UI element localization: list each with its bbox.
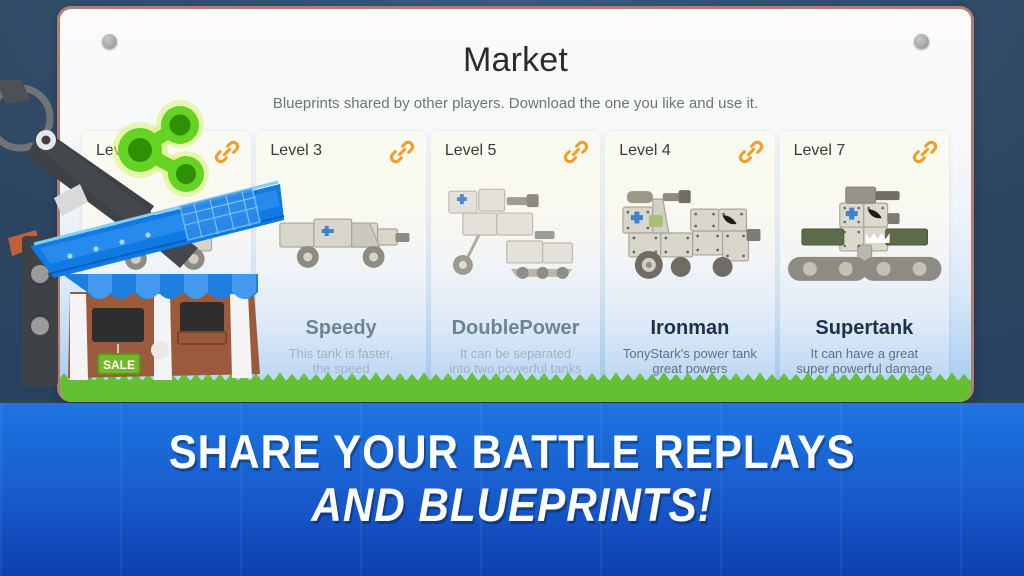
blueprint-card[interactable]: Level 3 xyxy=(256,131,425,402)
tank-sprite xyxy=(605,173,774,303)
tank-sprite xyxy=(82,173,251,303)
promo-line-1: SHARE YOUR BATTLE REPLAYS xyxy=(51,425,973,478)
card-level-label: Level 7 xyxy=(794,142,846,160)
tank-sprite xyxy=(431,173,600,303)
card-level-label: Level 3 xyxy=(270,142,322,160)
promo-banner: SHARE YOUR BATTLE REPLAYS AND BLUEPRINTS… xyxy=(0,403,1024,576)
link-icon[interactable] xyxy=(563,139,589,165)
link-icon[interactable] xyxy=(389,139,415,165)
link-icon[interactable] xyxy=(214,139,240,165)
card-title: Speedy xyxy=(256,317,425,340)
tank-sprite xyxy=(780,173,949,303)
blueprint-card[interactable]: Level 7 xyxy=(780,131,949,402)
link-icon[interactable] xyxy=(738,139,764,165)
card-level-label: Level 4 xyxy=(619,142,671,160)
page-title: Market xyxy=(60,41,971,80)
market-panel: Market Blueprints shared by other player… xyxy=(57,6,974,402)
blueprint-card[interactable]: Level 5 xyxy=(431,131,600,402)
promo-banner-text: SHARE YOUR BATTLE REPLAYS AND BLUEPRINTS… xyxy=(51,425,973,531)
promo-line-2: AND BLUEPRINTS! xyxy=(51,478,973,531)
grass-strip xyxy=(60,380,971,402)
card-level-label: Level 5 xyxy=(445,142,497,160)
card-level-label: Level 2 xyxy=(96,142,148,160)
card-title: DoublePower xyxy=(431,317,600,340)
blueprint-card-list: Level 2 xyxy=(82,131,949,402)
page-subtitle: Blueprints shared by other players. Down… xyxy=(60,95,971,112)
card-title: Ironman xyxy=(605,317,774,340)
blueprint-card[interactable]: Level 2 xyxy=(82,131,251,402)
link-icon[interactable] xyxy=(912,139,938,165)
blueprint-card[interactable]: Level 4 xyxy=(605,131,774,402)
card-title: Supertank xyxy=(780,317,949,340)
tank-sprite xyxy=(256,173,425,303)
